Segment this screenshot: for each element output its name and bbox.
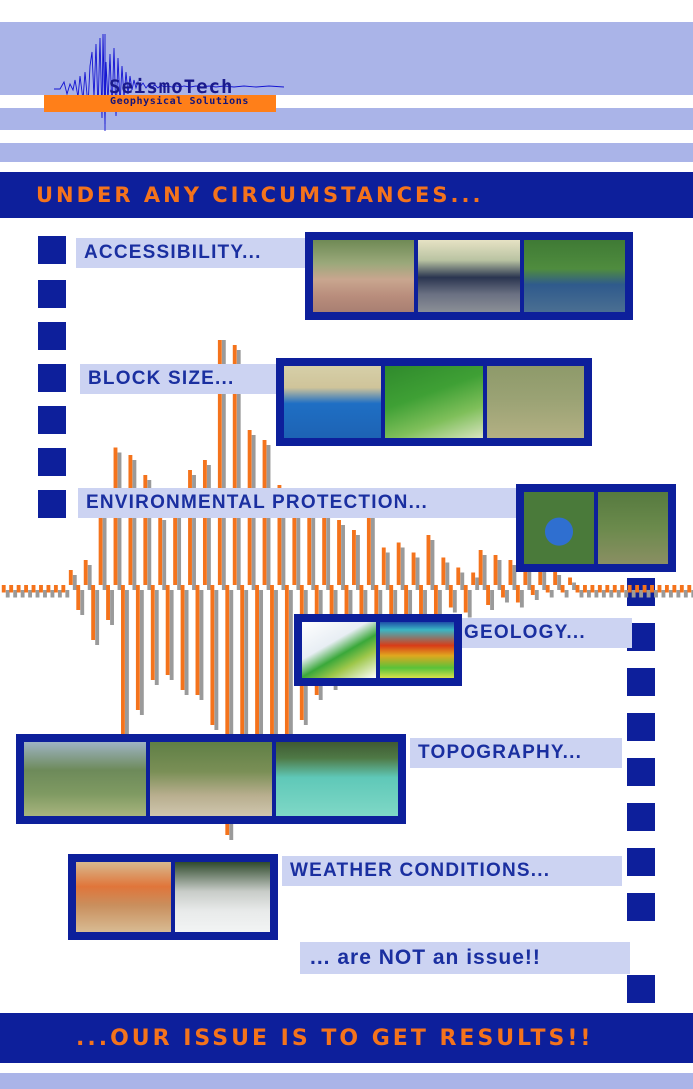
photo-3d-geological-block-model [302,622,376,678]
row-label-geology: GEOLOGY... [456,618,632,648]
brand-name: SeismoTech [109,76,233,98]
photo-boat-on-jungle-river [524,240,625,312]
row-label-block-size: BLOCK SIZE... [80,364,286,394]
row-label-topography: TOPOGRAPHY... [410,738,622,768]
photo-satellite-vegetation-map [385,366,482,438]
photo-coastal-survey-block-map [284,366,381,438]
headline-banner: UNDER ANY CIRCUMSTANCES... [0,172,693,218]
left-square-2 [38,280,66,308]
photo-blue-drum-in-forest [524,492,594,564]
photo-vibrator-trucks-in-snow [175,862,270,932]
photo-aerial-terrain-grid [487,366,584,438]
right-square-9 [627,975,655,1003]
row-label-weather-conditions: WEATHER CONDITIONS... [282,856,622,886]
row-label-environmental-protection: ENVIRONMENTAL PROTECTION... [78,488,534,518]
photo-strip-geology [294,614,462,686]
photo-strip-accessibility [305,232,633,320]
photo-4x4-crossing-flooded-road [418,240,519,312]
photo-crew-digging-in-desert-heat [76,862,171,932]
brand-tagline: Geophysical Solutions [110,96,249,107]
photo-equipment-on-wooden-platform [598,492,668,564]
photo-strip-topography [16,734,406,824]
photo-strip-weather-conditions [68,854,278,940]
results-banner: ...OUR ISSUE IS TO GET RESULTS!! [0,1013,693,1063]
photo-crew-on-mountain-slope [24,742,146,816]
photo-rocky-riverbank-outcrop [150,742,272,816]
left-square-1 [38,236,66,264]
photo-strip-block-size [276,358,592,446]
header-stripe-3 [0,143,693,162]
photo-pickup-truck-on-muddy-track [313,240,414,312]
right-square-7 [627,848,655,876]
row-label-accessibility: ACCESSIBILITY... [76,238,320,268]
brand-logo: SeismoTech Geophysical Solutions [44,32,294,132]
closing-statement: ... are NOT an issue!! [300,942,630,974]
results-text: ...OUR ISSUE IS TO GET RESULTS!! [76,1026,593,1051]
photo-turquoise-river-and-bridge [276,742,398,816]
right-square-8 [627,893,655,921]
photo-strip-environmental-protection [516,484,676,572]
photo-velocity-tomography-sections [380,622,454,678]
headline-text: UNDER ANY CIRCUMSTANCES... [36,183,483,207]
poster-canvas: SeismoTech Geophysical Solutions UNDER A… [0,0,693,1089]
footer-stripe [0,1073,693,1089]
